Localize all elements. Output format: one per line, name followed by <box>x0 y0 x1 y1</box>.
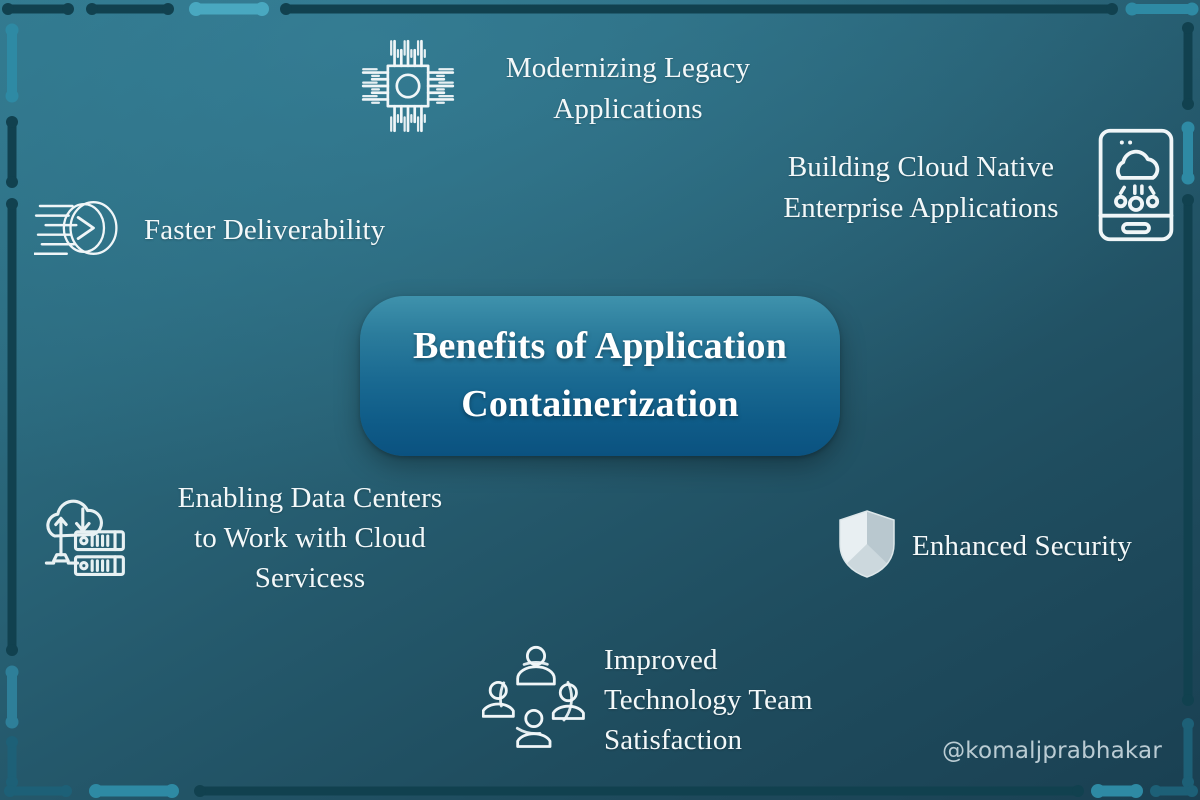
border-top-segments <box>2 2 1199 16</box>
speed-arrow-icon <box>34 185 130 276</box>
page-title: Benefits of Application Containerization <box>413 318 787 434</box>
mobile-cloud-icon <box>1094 126 1178 249</box>
benefit-label-team: Improved Technology Team Satisfaction <box>604 640 854 760</box>
border-right-segments <box>1182 22 1195 788</box>
benefit-item-cloudnative: Building Cloud Native Enterprise Applica… <box>762 126 1178 249</box>
benefit-label-security: Enhanced Security <box>912 526 1170 566</box>
benefit-label-cloudnative: Building Cloud Native Enterprise Applica… <box>762 147 1080 227</box>
benefit-item-datacenters: Enabling Data Centers to Work with Cloud… <box>36 478 466 598</box>
benefit-label-datacenters: Enabling Data Centers to Work with Cloud… <box>154 478 466 598</box>
border-left-segments <box>6 24 19 789</box>
team-circle-icon <box>482 643 590 758</box>
benefit-item-team: Improved Technology Team Satisfaction <box>482 640 854 760</box>
microchip-icon <box>352 30 464 147</box>
watermark-handle: @komaljprabhakar <box>942 738 1162 764</box>
benefit-label-faster: Faster Deliverability <box>144 210 422 250</box>
benefit-item-security: Enhanced Security <box>836 508 1170 585</box>
benefit-item-faster: Faster Deliverability <box>34 185 422 276</box>
cloud-server-icon <box>36 483 140 594</box>
infographic-canvas: Modernizing Legacy Applications Building… <box>0 0 1200 800</box>
border-bottom-segments <box>4 784 1198 798</box>
center-title-badge: Benefits of Application Containerization <box>360 296 840 456</box>
benefit-item-modernizing: Modernizing Legacy Applications <box>352 30 778 147</box>
shield-icon <box>836 508 898 585</box>
benefit-label-modernizing: Modernizing Legacy Applications <box>478 48 778 128</box>
